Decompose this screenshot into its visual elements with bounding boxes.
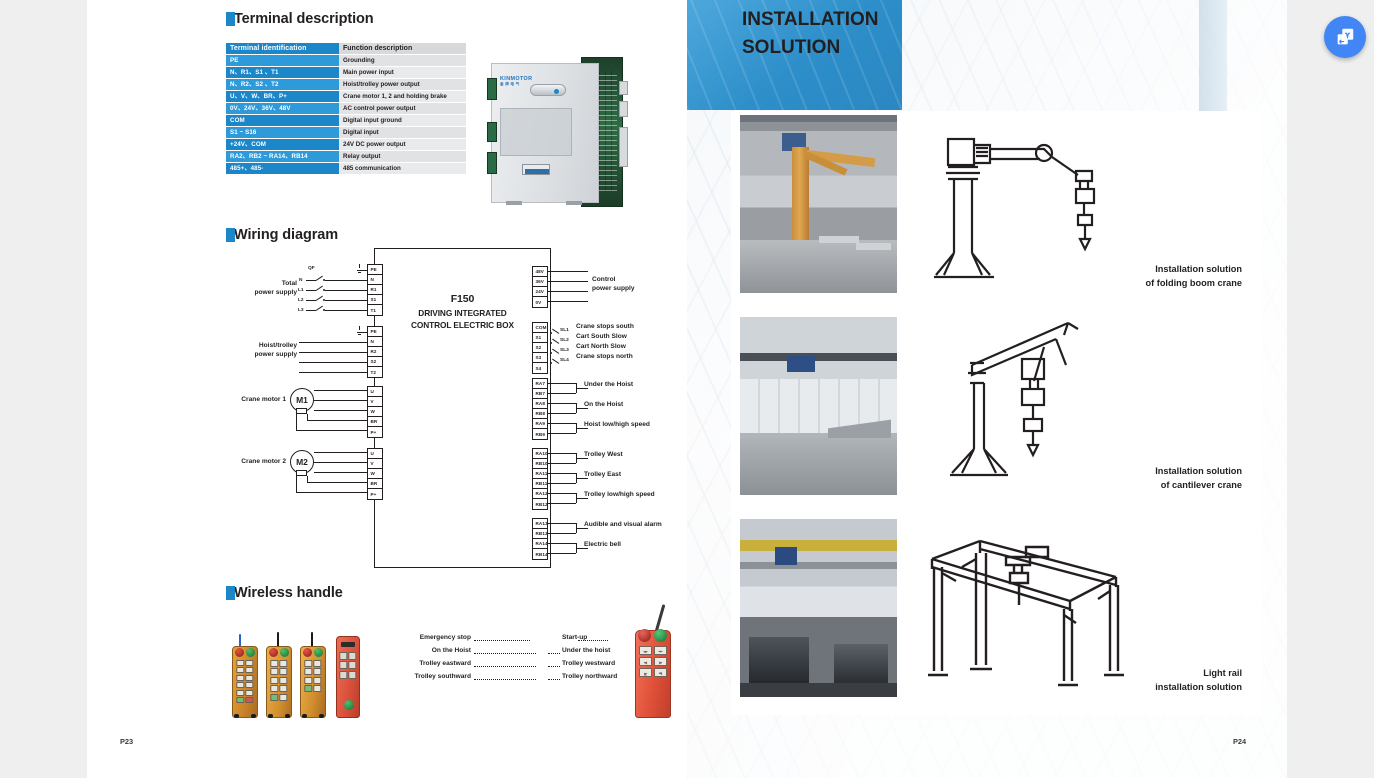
label-hoist-trolley-power-supply: Hoist/trolleypower supply — [225, 342, 297, 359]
callout-trolley-westward: Trolley westward — [562, 660, 615, 667]
table-row: N、R2、S2 、T2Hoist/trolley power output — [226, 79, 466, 90]
label-breaker-qf: QF — [308, 266, 315, 271]
holding-brake-symbol — [296, 470, 307, 476]
button-on-the-hoist: ▲ — [639, 646, 652, 655]
wiring-diagram-box-title: F150 DRIVING INTEGRATED CONTROL ELECTRIC… — [376, 292, 549, 331]
table-row: RA2、RB2 ~ RA14、RB14Relay output — [226, 151, 466, 162]
remote-control-8-button — [300, 632, 326, 718]
section-heading-wireless-handle: Wireless handle — [234, 585, 343, 601]
terminal-group-control-power-output: 48V 36V 24V 0V — [532, 266, 548, 308]
table-row: S1 ~ S16Digital input — [226, 127, 466, 138]
wireless-handle-group: ▲ ▼ ◀ ▶ ◣ ◥ Emergency stop On the Hoist … — [226, 608, 696, 718]
terminal-group-relay-outputs-7-9: RA7 RB7 RA8 RB8 RA9 RB9 — [532, 378, 548, 440]
document-export-button[interactable] — [1324, 16, 1366, 58]
holding-brake-symbol — [296, 408, 307, 414]
terminal-block-right — [619, 127, 628, 167]
label-crane-motor-2: Crane motor 2 — [225, 458, 286, 467]
table-header-function-description: Function description — [339, 43, 466, 54]
table-header-terminal-identification: Terminal identification — [226, 43, 339, 54]
table-row: 485+、485-485 communication — [226, 163, 466, 174]
left-page: Terminal description Terminal identifica… — [87, 0, 687, 778]
sketch-cantilever-crane — [918, 317, 1158, 495]
photo-folding-boom-crane — [740, 115, 897, 293]
solution-cantilever-crane: Installation solutionof cantilever crane — [740, 317, 1256, 495]
caption-light-rail: Light railinstallation solution — [1155, 667, 1242, 695]
terminal-group-main-power: PE N R1 S1 T1 — [367, 264, 383, 316]
table-row: PEGrounding — [226, 55, 466, 66]
terminal-block-left — [487, 152, 497, 174]
label-total-power-supply: Totalpower supply — [225, 280, 297, 297]
control-box-window — [500, 108, 572, 156]
remote-control-annotated: ▲ ▼ ◀ ▶ ◣ ◥ — [630, 608, 676, 718]
button-trolley-westward: ▶ — [654, 657, 667, 666]
emergency-stop-button — [638, 629, 651, 642]
label-crane-motor-1: Crane motor 1 — [225, 396, 286, 405]
callout-start-up: Start-up — [562, 634, 587, 641]
remote-control-12-button — [232, 634, 258, 718]
left-page-number: P23 — [120, 737, 133, 746]
terminal-description-table: Terminal identification Function descrip… — [226, 42, 466, 175]
heading-marker-icon — [226, 12, 235, 26]
terminal-block-left — [487, 78, 497, 100]
caption-cantilever-crane: Installation solutionof cantilever crane — [1155, 465, 1242, 493]
heading-marker-icon — [226, 228, 235, 242]
callout-trolley-eastward: Trolley eastward — [381, 660, 471, 667]
banner-title: INSTALLATIONSOLUTION — [742, 6, 942, 61]
terminal-group-hoist-trolley-power: PE N R2 S2 T2 — [367, 326, 383, 378]
table-row: COMDigital input ground — [226, 115, 466, 126]
document-export-icon — [1334, 26, 1356, 48]
sketch-light-rail — [918, 519, 1158, 697]
table-row: +24V、COM24V DC power output — [226, 139, 466, 150]
label-control-power-supply: Controlpower supply — [592, 276, 635, 293]
callout-emergency-stop: Emergency stop — [386, 634, 471, 641]
table-row: U、V、W、BR、P+Crane motor 1, 2 and holding … — [226, 91, 466, 102]
start-up-button — [654, 629, 667, 642]
solution-light-rail: Light railinstallation solution — [740, 519, 1256, 697]
section-heading-terminal-description: Terminal description — [234, 11, 374, 27]
wiring-diagram: F150 DRIVING INTEGRATED CONTROL ELECTRIC… — [226, 248, 696, 573]
button-trolley-northward: ◥ — [654, 668, 667, 677]
control-box-brand: KINMOTOR 金牌电气 — [500, 76, 532, 87]
control-box-display — [522, 164, 550, 175]
terminal-group-relay-outputs-13-14: RA13 RB13 RA14 RB14 — [532, 518, 548, 560]
terminal-group-relay-outputs-10-12: RA10 RB10 RA11 RB11 RA12 RB12 — [532, 448, 548, 510]
right-page-number: P24 — [1233, 737, 1246, 746]
button-under-the-hoist: ▼ — [654, 646, 667, 655]
control-box-photo: KINMOTOR 金牌电气 — [491, 57, 635, 209]
button-trolley-southward: ◣ — [639, 668, 652, 677]
table-row: 0V、24V、36V、48VAC control power output — [226, 103, 466, 114]
terminal-block-right — [619, 81, 628, 95]
terminal-block-right — [619, 101, 628, 117]
control-box-handle — [530, 84, 566, 96]
photo-light-rail — [740, 519, 897, 697]
right-page: INSTALLATIONSOLUTION — [687, 0, 1287, 778]
table-header-row: Terminal identification Function descrip… — [226, 43, 466, 54]
control-box-shell: KINMOTOR 金牌电气 — [491, 63, 599, 203]
callout-under-the-hoist: Under the hoist — [562, 647, 610, 654]
section-heading-wiring-diagram: Wiring diagram — [234, 227, 338, 243]
button-trolley-eastward: ◀ — [639, 657, 652, 666]
sketch-folding-boom-crane — [918, 115, 1158, 293]
terminal-group-digital-inputs: COM S1 S2 S3 S4 — [532, 322, 548, 374]
caption-folding-boom-crane: Installation solutionof folding boom cra… — [1146, 263, 1242, 291]
solution-folding-boom-crane: Installation solutionof folding boom cra… — [740, 115, 1256, 293]
remote-control-6-button — [336, 636, 360, 718]
callout-trolley-southward: Trolley southward — [381, 673, 471, 680]
callout-on-the-hoist: On the Hoist — [386, 647, 471, 654]
terminal-group-crane-motor-2: U V W BR P+ — [367, 448, 383, 500]
pdf-viewer[interactable]: Terminal description Terminal identifica… — [0, 0, 1374, 778]
remote-control-10-button — [266, 632, 292, 718]
solutions-panel: Installation solutionof folding boom cra… — [731, 111, 1262, 715]
table-row: N、R1、S1 、T1Main power input — [226, 67, 466, 78]
callout-trolley-northward: Trolley northward — [562, 673, 617, 680]
photo-cantilever-crane — [740, 317, 897, 495]
heading-marker-icon — [226, 586, 235, 600]
terminal-group-crane-motor-1: U V W BR P+ — [367, 386, 383, 438]
terminal-block-left — [487, 122, 497, 142]
